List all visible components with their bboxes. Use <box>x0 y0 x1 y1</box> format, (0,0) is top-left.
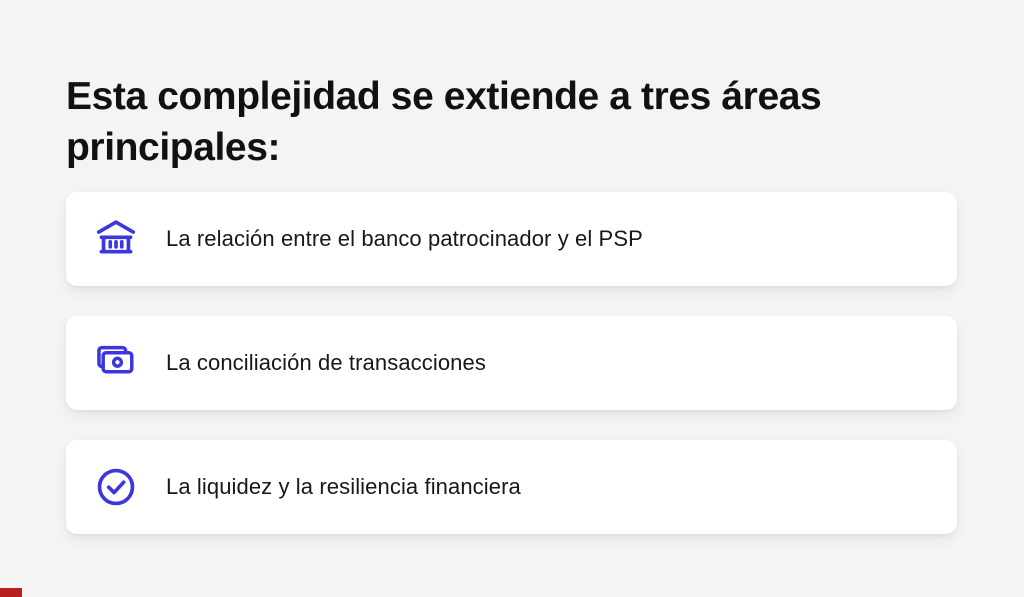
corner-marker <box>0 588 22 597</box>
list-item[interactable]: La relación entre el banco patrocinador … <box>66 192 957 286</box>
list-item-label: La liquidez y la resiliencia financiera <box>166 473 545 501</box>
bank-icon <box>66 216 166 262</box>
check-circle-icon <box>66 464 166 510</box>
slide-root: Esta complejidad se extiende a tres área… <box>0 0 1024 597</box>
card-list: La relación entre el banco patrocinador … <box>66 192 957 534</box>
page-title-line-2: principales: <box>66 122 926 173</box>
list-item[interactable]: La liquidez y la resiliencia financiera <box>66 440 957 534</box>
list-item-label: La conciliación de transacciones <box>166 349 510 377</box>
page-title-line-1: Esta complejidad se extiende a tres área… <box>66 71 926 122</box>
banknotes-icon <box>66 341 166 385</box>
list-item-label: La relación entre el banco patrocinador … <box>166 225 667 253</box>
page-title: Esta complejidad se extiende a tres área… <box>66 71 926 173</box>
list-item[interactable]: La conciliación de transacciones <box>66 316 957 410</box>
